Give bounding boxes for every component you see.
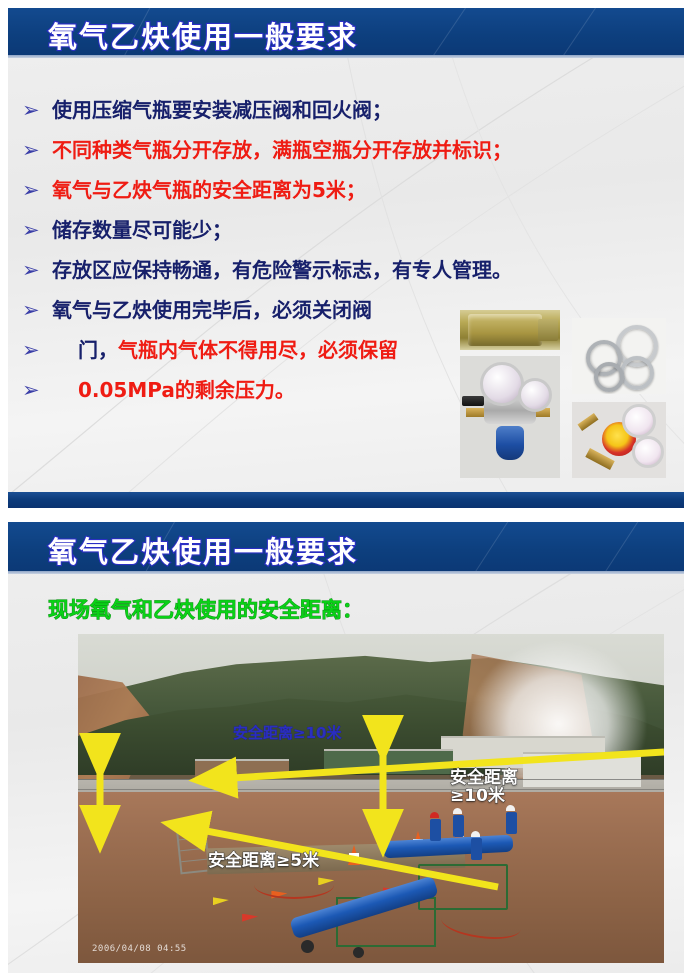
arrow-bullet-icon: ➢ (22, 260, 52, 281)
regulator-lever (462, 396, 484, 406)
site-photo: 安全距离 ≥10米 安全距离≥5米 安全距离≥10米 2006/04/08 04… (78, 634, 664, 963)
list-item: ➢ 不同种类气瓶分开存放，满瓶空瓶分开存放并标识； (22, 140, 662, 180)
arrow-bullet-icon: ➢ (22, 300, 52, 321)
list-item: ➢ 氧气与乙炔气瓶的安全距离为5米； (22, 180, 662, 220)
annotation-distance-10m: 安全距离 ≥10米 (450, 770, 518, 806)
hose-clamps-photo (572, 318, 666, 394)
arrow-bullet-icon: ➢ (22, 380, 52, 401)
arrow-bullet-icon: ➢ (22, 180, 52, 201)
pressure-gauge (632, 436, 664, 468)
slide2-title: 氧气乙炔使用一般要求 (48, 529, 358, 571)
clamp-ring (620, 356, 654, 390)
bullet-text: 氧气与乙炔气瓶的安全距离为5米； (52, 180, 366, 200)
pressure-gauge (622, 404, 656, 438)
adjusting-knob-blue (496, 426, 524, 460)
bullet-text: 储存数量尽可能少； (52, 220, 232, 240)
bullet-text: 氧气与乙炔使用完毕后，必须关闭阀 (52, 300, 372, 320)
arrow-bullet-icon: ➢ (22, 220, 52, 241)
clamp-ring (594, 362, 624, 392)
header-diagonal-line (393, 8, 483, 58)
header-diagonal-line (432, 522, 525, 574)
slide1-title: 氧气乙炔使用一般要求 (48, 14, 358, 56)
bullet-text-navy-part: 门， (78, 338, 118, 362)
bullet-text: 使用压缩气瓶要安装减压阀和回火阀； (52, 100, 392, 120)
equipment-photo-montage (460, 310, 666, 478)
bullet-text-red-part: 气瓶内气体不得用尽，必须保留 (118, 338, 398, 362)
regulator-inlet (578, 413, 599, 431)
annotation-distance-5m: 安全距离≥5米 (208, 853, 319, 871)
list-item: ➢ 使用压缩气瓶要安装减压阀和回火阀； (22, 100, 662, 140)
pressure-gauge (518, 378, 552, 412)
arrow-bullet-icon: ➢ (22, 140, 52, 161)
acetylene-regulator-photo (572, 402, 666, 478)
measurement-arrows (78, 634, 664, 963)
arrow-bullet-icon: ➢ (22, 100, 52, 121)
annotation-distance-10m-blue: 安全距离≥10米 (233, 726, 341, 742)
oxygen-regulator-photo (460, 356, 560, 478)
slide2-subtitle: 现场氧气和乙炔使用的安全距离： (48, 594, 363, 624)
photo-timestamp: 2006/04/08 04:55 (92, 944, 187, 954)
slide-site-safety-distance: 氧气乙炔使用一般要求 现场氧气和乙炔使用的安全距离： (8, 522, 684, 973)
arrow-to-left-upper (198, 752, 664, 780)
bullet-text: 不同种类气瓶分开存放，满瓶空瓶分开存放并标识； (52, 140, 512, 160)
header-diagonal-line (562, 522, 655, 574)
pressure-gauge (480, 362, 524, 406)
list-item: ➢ 储存数量尽可能少； (22, 220, 662, 260)
list-item: ➢ 存放区应保持畅通，有危险警示标志，有专人管理。 (22, 260, 662, 300)
bullet-text: 存放区应保持畅通，有危险警示标志，有专人管理。 (52, 260, 512, 280)
bullet-text: 0.05MPa的剩余压力。 (52, 380, 295, 400)
bullet-text: 门，气瓶内气体不得用尽，必须保留 (52, 340, 398, 360)
header-diagonal-line (523, 8, 613, 58)
flashback-arrestor-photo (460, 310, 560, 350)
slide-oxygen-acetylene-requirements: 氧气乙炔使用一般要求 ➢ 使用压缩气瓶要安装减压阀和回火阀； ➢ 不同种类气瓶分… (8, 8, 684, 508)
arrow-bullet-icon: ➢ (22, 340, 52, 361)
slide1-footer-bar (8, 492, 684, 508)
